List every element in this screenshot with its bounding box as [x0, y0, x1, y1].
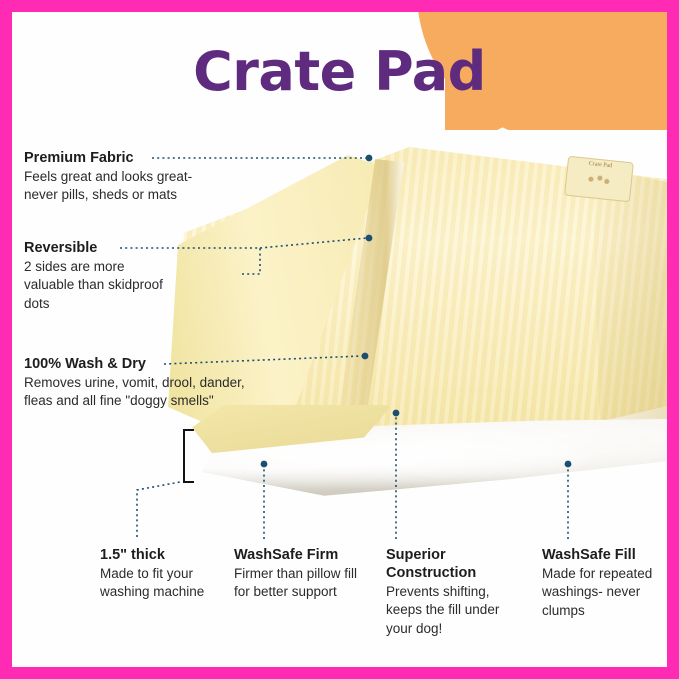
callout-title: 1.5" thick: [100, 546, 210, 564]
infographic-page: Crate Pad Crate Pad: [0, 0, 679, 679]
border-bottom: [0, 667, 679, 679]
callout-body: Firmer than pillow fill for better suppo…: [234, 565, 362, 601]
brand-tag: Crate Pad: [564, 156, 634, 203]
border-top: [0, 0, 679, 12]
callout-reversible: Reversible 2 sides are more valuable tha…: [24, 239, 164, 313]
callout-superior-construction: Superior Construction Prevents shifting,…: [386, 546, 506, 638]
callout-title: 100% Wash & Dry: [24, 355, 256, 373]
callout-title: WashSafe Fill: [542, 546, 660, 564]
callout-title: Premium Fabric: [24, 149, 199, 167]
infographic-canvas: Crate Pad Crate Pad: [12, 12, 667, 667]
callout-body: Made for repeated washings- never clumps: [542, 565, 660, 620]
callout-washsafe-firm: WashSafe Firm Firmer than pillow fill fo…: [234, 546, 362, 602]
callout-title: WashSafe Firm: [234, 546, 362, 564]
callout-washsafe-fill: WashSafe Fill Made for repeated washings…: [542, 546, 660, 620]
callout-body: Made to fit your washing machine: [100, 565, 210, 601]
border-left: [0, 0, 12, 679]
callout-body: Removes urine, vomit, drool, dander, fle…: [24, 374, 256, 410]
callout-thickness: 1.5" thick Made to fit your washing mach…: [100, 546, 210, 602]
border-right: [667, 0, 679, 679]
callout-wash-and-dry: 100% Wash & Dry Removes urine, vomit, dr…: [24, 355, 256, 411]
brand-tag-emblem-icon: [578, 167, 620, 191]
callout-premium-fabric: Premium Fabric Feels great and looks gre…: [24, 149, 199, 205]
callout-title: Reversible: [24, 239, 164, 257]
page-title: Crate Pad: [12, 40, 667, 103]
callout-body: Prevents shifting, keeps the fill under …: [386, 583, 506, 638]
product-image: Crate Pad: [162, 137, 667, 527]
callout-body: 2 sides are more valuable than skidproof…: [24, 258, 164, 313]
callout-title: Superior Construction: [386, 546, 506, 582]
pad-far-edge-shadow: [592, 167, 667, 447]
callout-body: Feels great and looks great- never pills…: [24, 168, 199, 204]
